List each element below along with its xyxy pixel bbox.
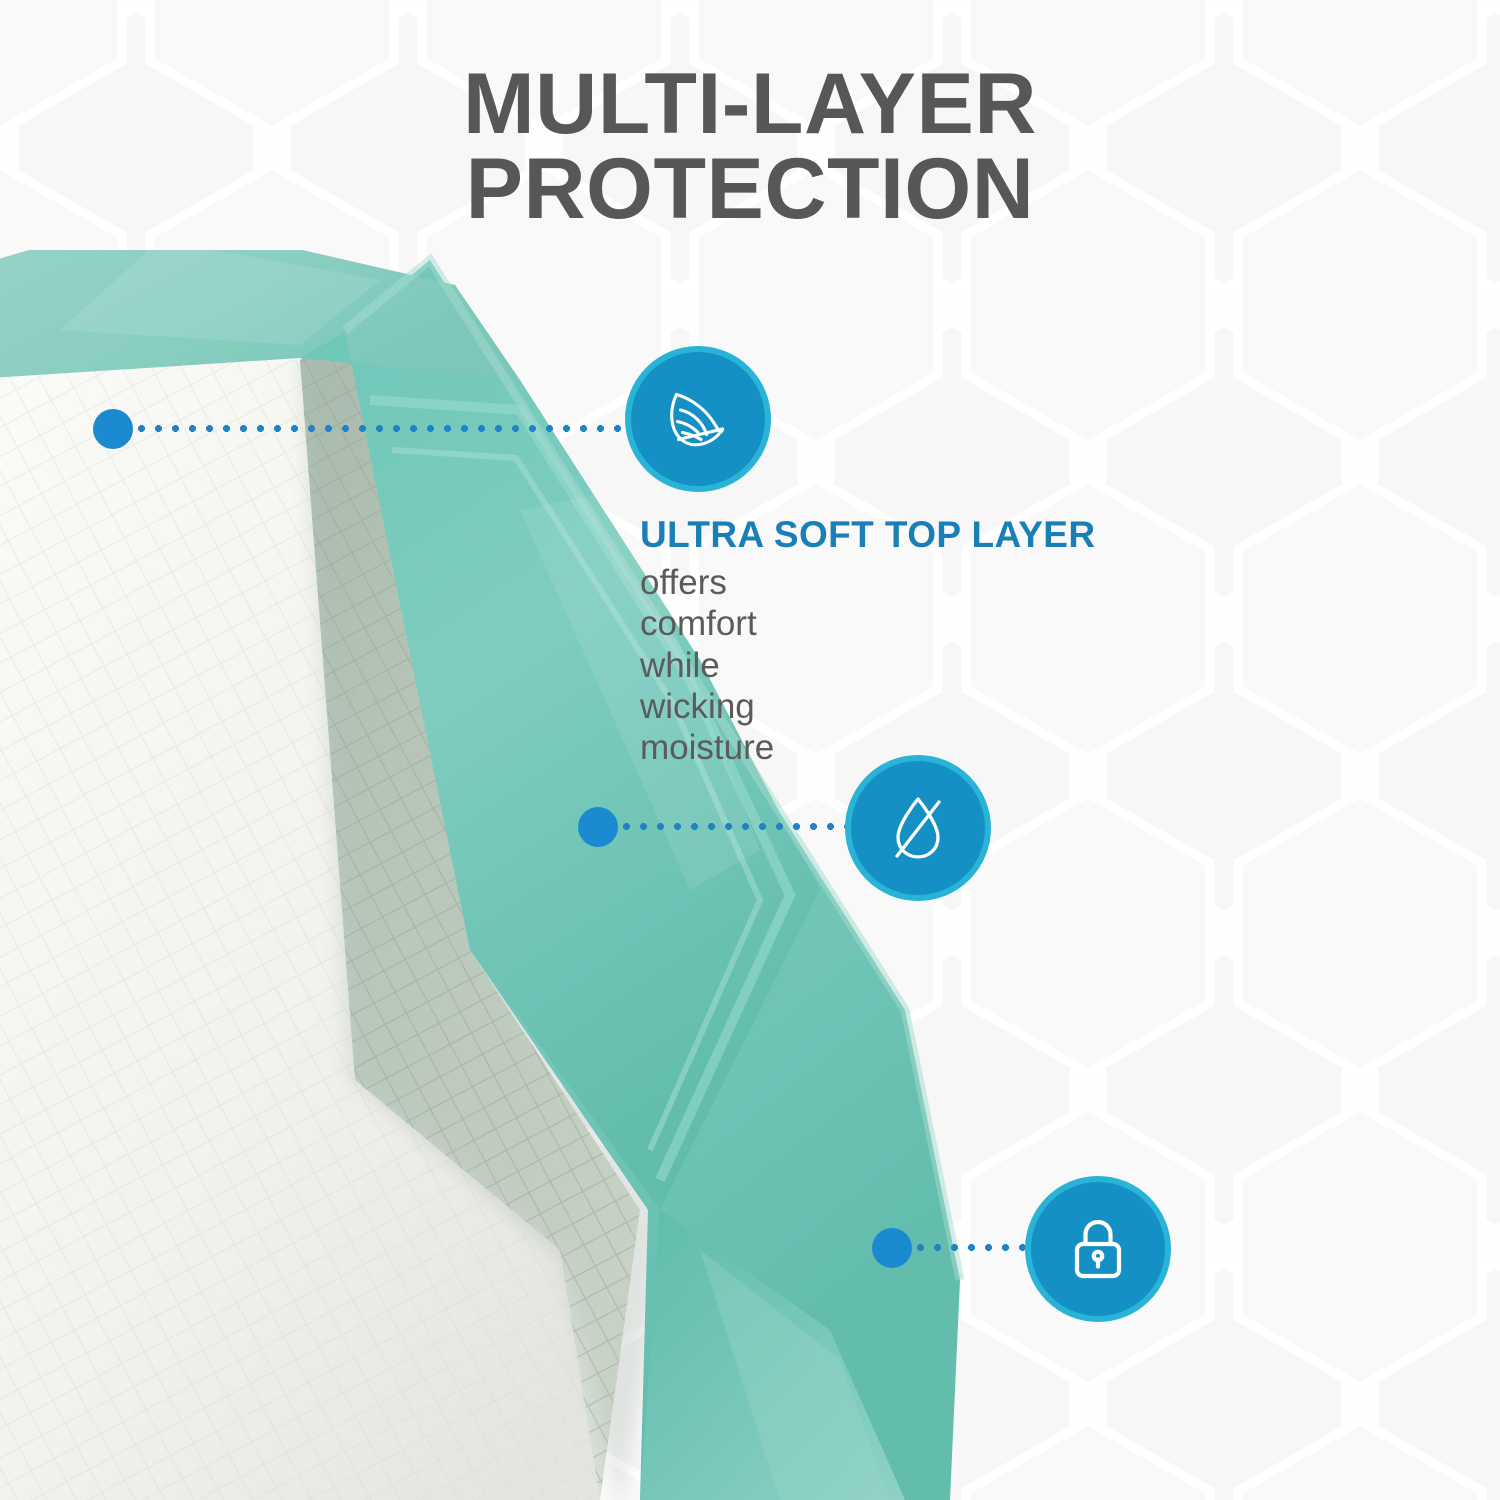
padlock-icon-badge[interactable] bbox=[1025, 1176, 1171, 1322]
infographic-canvas: MULTI-LAYER PROTECTION ULTRA bbox=[0, 0, 1500, 1500]
connector-dotted-line-3 bbox=[912, 1244, 1042, 1251]
title-line-2: PROTECTION bbox=[0, 147, 1500, 232]
feather-icon bbox=[656, 377, 740, 461]
title-line-1: MULTI-LAYER bbox=[0, 62, 1500, 147]
connector-node-3 bbox=[872, 1228, 912, 1268]
feather-icon-badge[interactable] bbox=[625, 346, 771, 492]
product-photo-underpad bbox=[0, 250, 1010, 1500]
padlock-icon bbox=[1056, 1207, 1140, 1291]
connector-node-2 bbox=[578, 807, 618, 847]
page-title: MULTI-LAYER PROTECTION bbox=[0, 62, 1500, 232]
feature-headline-1: ULTRA SOFT TOP LAYER bbox=[640, 514, 1095, 556]
water-drop-slash-icon bbox=[876, 786, 960, 870]
water-drop-slash-icon-badge[interactable] bbox=[845, 755, 991, 901]
feature-subline-1: offers comfort while wicking moisture bbox=[640, 562, 774, 768]
connector-dotted-line-1 bbox=[133, 425, 636, 432]
connector-node-1 bbox=[93, 409, 133, 449]
feature-subline-1-line-2: wicking moisture bbox=[640, 686, 774, 769]
feature-subline-1-line-1: offers comfort while bbox=[640, 562, 774, 686]
connector-dotted-line-2 bbox=[618, 823, 856, 830]
